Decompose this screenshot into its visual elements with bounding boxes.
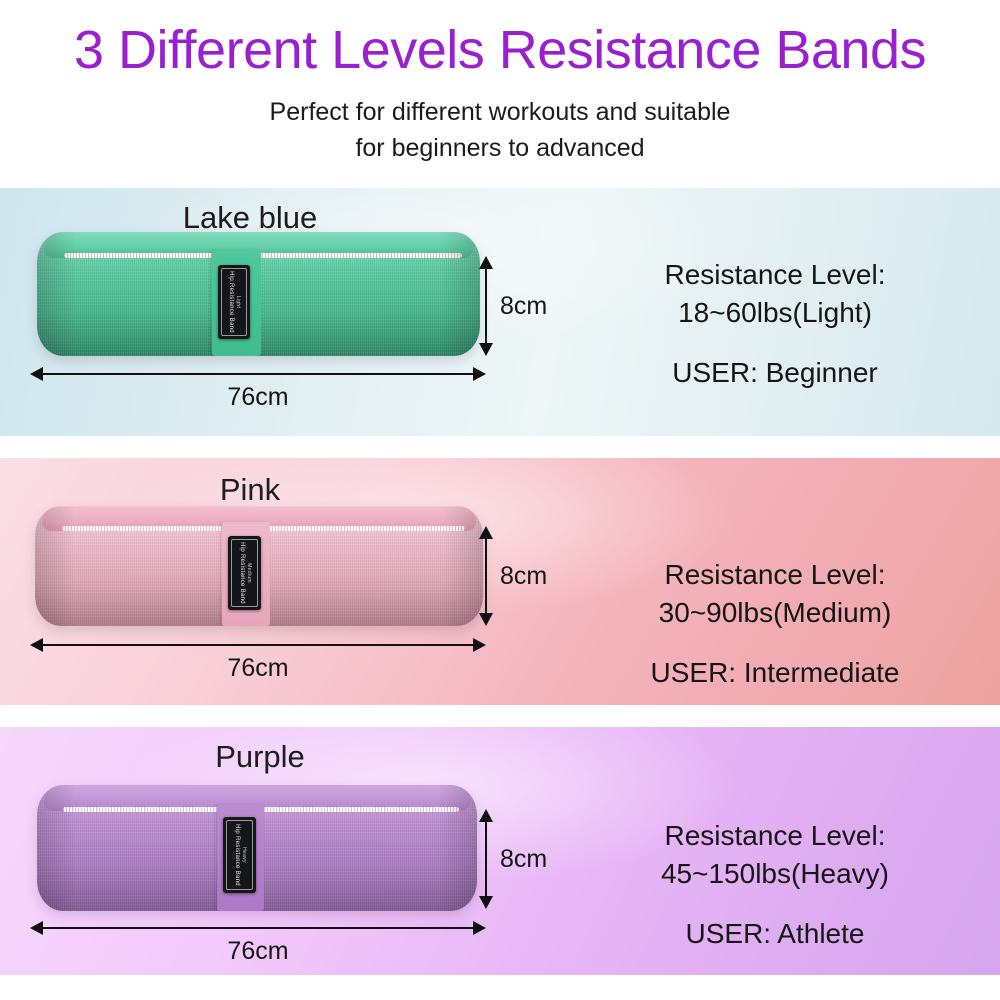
tag-brand: Hip Resistance Band — [239, 542, 245, 604]
user-label: USER: Beginner — [570, 354, 980, 392]
dimension-height-label: 8cm — [500, 844, 547, 874]
resistance-label: Resistance Level: — [570, 817, 980, 855]
resistance-value: 30~90lbs(Medium) — [570, 594, 980, 632]
tag-brand: Hip Resistance Band — [234, 824, 240, 886]
spec-text-pink: Resistance Level: 30~90lbs(Medium) USER:… — [570, 556, 980, 692]
tag-level: Light — [234, 271, 241, 333]
dimension-length-label: 76cm — [30, 382, 486, 412]
resistance-value: 45~150lbs(Heavy) — [570, 855, 980, 893]
resistance-label: Resistance Level: — [570, 256, 980, 294]
user-label: USER: Intermediate — [570, 654, 980, 692]
arrow-down-icon — [479, 896, 493, 909]
page-title: 3 Different Levels Resistance Bands — [0, 20, 1000, 80]
band-image-purple: Heavy Hip Resistance Band — [37, 785, 477, 911]
dimension-height-purple: 8cm — [474, 809, 498, 909]
resistance-label: Resistance Level: — [570, 556, 980, 594]
tag-text: Medium Hip Resistance Band — [238, 542, 252, 604]
band-shape — [37, 232, 480, 356]
spec-text-lake-blue: Resistance Level: 18~60lbs(Light) USER: … — [570, 256, 980, 392]
dimension-height-label: 8cm — [500, 561, 547, 591]
tag-text: Light Hip Resistance Band — [227, 271, 241, 333]
band-label-tag: Medium Hip Resistance Band — [228, 536, 261, 610]
dimension-height-pink: 8cm — [474, 526, 498, 626]
arrow-right-icon — [473, 638, 486, 652]
header: 3 Different Levels Resistance Bands Perf… — [0, 0, 1000, 188]
dimension-line — [485, 817, 487, 901]
band-shape — [37, 785, 477, 911]
color-name-lake-blue: Lake blue — [105, 200, 395, 236]
dimension-height-label: 8cm — [500, 291, 547, 321]
band-image-lake-blue: Light Hip Resistance Band — [37, 232, 480, 356]
product-panel-lake-blue: Lake blue Light Hip Resistance Band — [0, 188, 1000, 436]
subtitle-line-1: Perfect for different workouts and suita… — [0, 94, 1000, 130]
arrow-right-icon — [473, 921, 486, 935]
tag-text: Heavy Hip Resistance Band — [233, 824, 247, 886]
product-infographic: 3 Different Levels Resistance Bands Perf… — [0, 0, 1000, 1000]
page-subtitle: Perfect for different workouts and suita… — [0, 94, 1000, 166]
resistance-value: 18~60lbs(Light) — [570, 294, 980, 332]
color-name-purple: Purple — [115, 739, 405, 775]
arrow-down-icon — [479, 343, 493, 356]
product-panel-pink: Pink Medium Hip Resistance Band — [0, 458, 1000, 705]
dimension-length-pink: 76cm — [30, 636, 486, 660]
tag-level: Medium — [245, 542, 252, 604]
dimension-line — [485, 264, 487, 348]
arrow-down-icon — [479, 613, 493, 626]
dimension-line — [38, 644, 478, 646]
dimension-line — [38, 927, 478, 929]
dimension-length-label: 76cm — [30, 936, 486, 966]
arrow-right-icon — [473, 367, 486, 381]
dimension-length-label: 76cm — [30, 653, 486, 683]
user-label: USER: Athlete — [570, 915, 980, 953]
band-label-tag: Light Hip Resistance Band — [218, 265, 250, 339]
dimension-length-lake-blue: 76cm — [30, 365, 486, 389]
dimension-line — [485, 534, 487, 618]
band-label-tag: Heavy Hip Resistance Band — [223, 817, 256, 893]
dimension-length-purple: 76cm — [30, 919, 486, 943]
band-image-pink: Medium Hip Resistance Band — [35, 506, 483, 626]
spec-text-purple: Resistance Level: 45~150lbs(Heavy) USER:… — [570, 817, 980, 953]
tag-level: Heavy — [240, 824, 247, 886]
dimension-line — [38, 373, 478, 375]
color-name-pink: Pink — [105, 472, 395, 508]
dimension-height-lake-blue: 8cm — [474, 256, 498, 356]
subtitle-line-2: for beginners to advanced — [0, 130, 1000, 166]
product-panel-purple: Purple Heavy Hip Resistance Band — [0, 727, 1000, 975]
